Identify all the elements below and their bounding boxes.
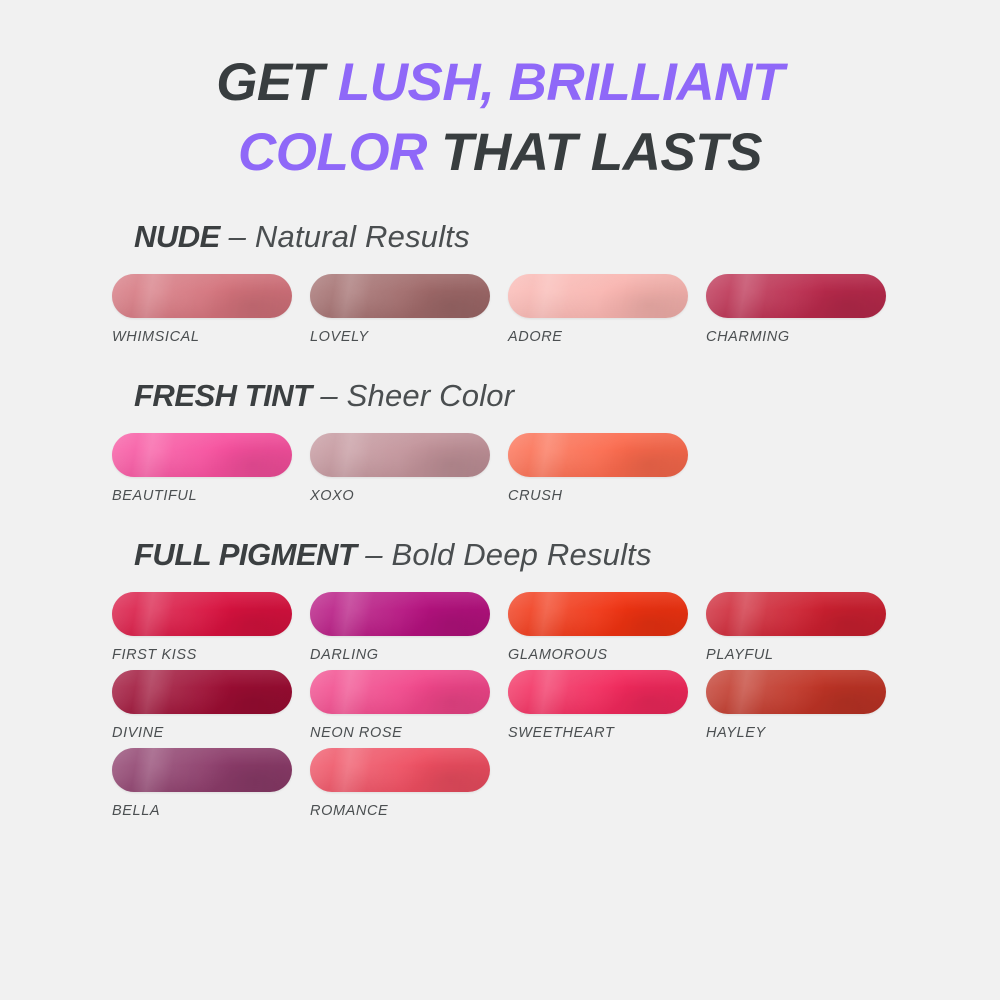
color-swatch-adore[interactable] — [508, 274, 688, 318]
shade-name-label: CHARMING — [706, 329, 904, 345]
color-swatch-sweetheart[interactable] — [508, 670, 688, 714]
shade-name-label: DARLING — [310, 647, 508, 663]
shade-swatch-cell-xoxo[interactable]: XOXO — [310, 433, 508, 504]
section-subtitle-label: – Sheer Color — [312, 378, 515, 413]
shade-name-label: WHIMSICAL — [112, 329, 310, 345]
shade-name-label: XOXO — [310, 488, 508, 504]
shade-swatch-cell-bella[interactable]: BELLA — [112, 748, 310, 819]
shade-swatch-cell-sweetheart[interactable]: SWEETHEART — [508, 670, 706, 741]
swatch-row: BEAUTIFULXOXOCRUSH — [112, 433, 1000, 511]
shade-name-label: NEON ROSE — [310, 725, 508, 741]
section-subtitle-label: – Natural Results — [220, 219, 470, 254]
shade-swatch-cell-darling[interactable]: DARLING — [310, 592, 508, 663]
color-swatch-hayley[interactable] — [706, 670, 886, 714]
shade-swatch-cell-first-kiss[interactable]: FIRST KISS — [112, 592, 310, 663]
color-swatch-beautiful[interactable] — [112, 433, 292, 477]
shade-swatch-cell-playful[interactable]: PLAYFUL — [706, 592, 904, 663]
shade-section-fresh-tint: FRESH TINT – Sheer ColorBEAUTIFULXOXOCRU… — [112, 380, 1000, 511]
color-swatch-glamorous[interactable] — [508, 592, 688, 636]
color-swatch-bella[interactable] — [112, 748, 292, 792]
shade-swatch-cell-whimsical[interactable]: WHIMSICAL — [112, 274, 310, 345]
shade-swatch-cell-neon-rose[interactable]: NEON ROSE — [310, 670, 508, 741]
shade-section-nude: NUDE – Natural ResultsWHIMSICALLOVELYADO… — [112, 221, 1000, 352]
shade-swatch-cell-romance[interactable]: ROMANCE — [310, 748, 508, 819]
page-title-text-that-lasts: THAT LASTS — [427, 123, 762, 182]
shade-name-label: ROMANCE — [310, 803, 508, 819]
shade-swatch-cell-adore[interactable]: ADORE — [508, 274, 706, 345]
shade-swatch-cell-beautiful[interactable]: BEAUTIFUL — [112, 433, 310, 504]
color-swatch-crush[interactable] — [508, 433, 688, 477]
swatch-row: FIRST KISSDARLINGGLAMOROUSPLAYFUL — [112, 592, 1000, 670]
color-swatch-whimsical[interactable] — [112, 274, 292, 318]
color-swatch-charming[interactable] — [706, 274, 886, 318]
shade-name-label: BELLA — [112, 803, 310, 819]
shade-name-label: PLAYFUL — [706, 647, 904, 663]
shade-section-full-pigment: FULL PIGMENT – Bold Deep ResultsFIRST KI… — [112, 539, 1000, 826]
section-category-label: NUDE — [134, 219, 220, 254]
color-swatch-neon-rose[interactable] — [310, 670, 490, 714]
section-subtitle-label: – Bold Deep Results — [356, 537, 651, 572]
shade-swatch-cell-divine[interactable]: DIVINE — [112, 670, 310, 741]
shade-name-label: ADORE — [508, 329, 706, 345]
shade-name-label: HAYLEY — [706, 725, 904, 741]
shade-swatch-cell-crush[interactable]: CRUSH — [508, 433, 706, 504]
page-title-text-get: GET — [216, 53, 338, 112]
color-swatch-divine[interactable] — [112, 670, 292, 714]
color-swatch-xoxo[interactable] — [310, 433, 490, 477]
shade-name-label: BEAUTIFUL — [112, 488, 310, 504]
shade-name-label: CRUSH — [508, 488, 706, 504]
color-swatch-lovely[interactable] — [310, 274, 490, 318]
shade-name-label: SWEETHEART — [508, 725, 706, 741]
shade-swatch-cell-hayley[interactable]: HAYLEY — [706, 670, 904, 741]
section-heading-fresh-tint: FRESH TINT – Sheer Color — [134, 380, 1000, 411]
page-title-accent-color: COLOR — [238, 123, 427, 182]
swatch-row: DIVINENEON ROSESWEETHEARTHAYLEY — [112, 670, 1000, 748]
swatch-grid-full-pigment: FIRST KISSDARLINGGLAMOROUSPLAYFULDIVINEN… — [112, 592, 1000, 826]
color-swatch-playful[interactable] — [706, 592, 886, 636]
page-title: GET LUSH, BRILLIANT COLOR THAT LASTS — [0, 0, 1000, 189]
page-title-accent-lush-brilliant: LUSH, BRILLIANT — [338, 53, 784, 112]
shade-name-label: FIRST KISS — [112, 647, 310, 663]
section-category-label: FULL PIGMENT — [134, 537, 356, 572]
swatch-grid-fresh-tint: BEAUTIFULXOXOCRUSH — [112, 433, 1000, 511]
color-swatch-first-kiss[interactable] — [112, 592, 292, 636]
shade-name-label: LOVELY — [310, 329, 508, 345]
shade-name-label: GLAMOROUS — [508, 647, 706, 663]
section-heading-full-pigment: FULL PIGMENT – Bold Deep Results — [134, 539, 1000, 570]
swatch-grid-nude: WHIMSICALLOVELYADORECHARMING — [112, 274, 1000, 352]
shade-name-label: DIVINE — [112, 725, 310, 741]
color-swatch-darling[interactable] — [310, 592, 490, 636]
page-title-line-1: GET LUSH, BRILLIANT — [0, 48, 1000, 118]
shade-swatch-cell-lovely[interactable]: LOVELY — [310, 274, 508, 345]
section-category-label: FRESH TINT — [134, 378, 312, 413]
shade-swatch-cell-glamorous[interactable]: GLAMOROUS — [508, 592, 706, 663]
shade-swatch-cell-charming[interactable]: CHARMING — [706, 274, 904, 345]
shade-sections: NUDE – Natural ResultsWHIMSICALLOVELYADO… — [0, 221, 1000, 826]
swatch-row: BELLAROMANCE — [112, 748, 1000, 826]
swatch-row: WHIMSICALLOVELYADORECHARMING — [112, 274, 1000, 352]
section-heading-nude: NUDE – Natural Results — [134, 221, 1000, 252]
color-swatch-romance[interactable] — [310, 748, 490, 792]
page-title-line-2: COLOR THAT LASTS — [0, 118, 1000, 188]
